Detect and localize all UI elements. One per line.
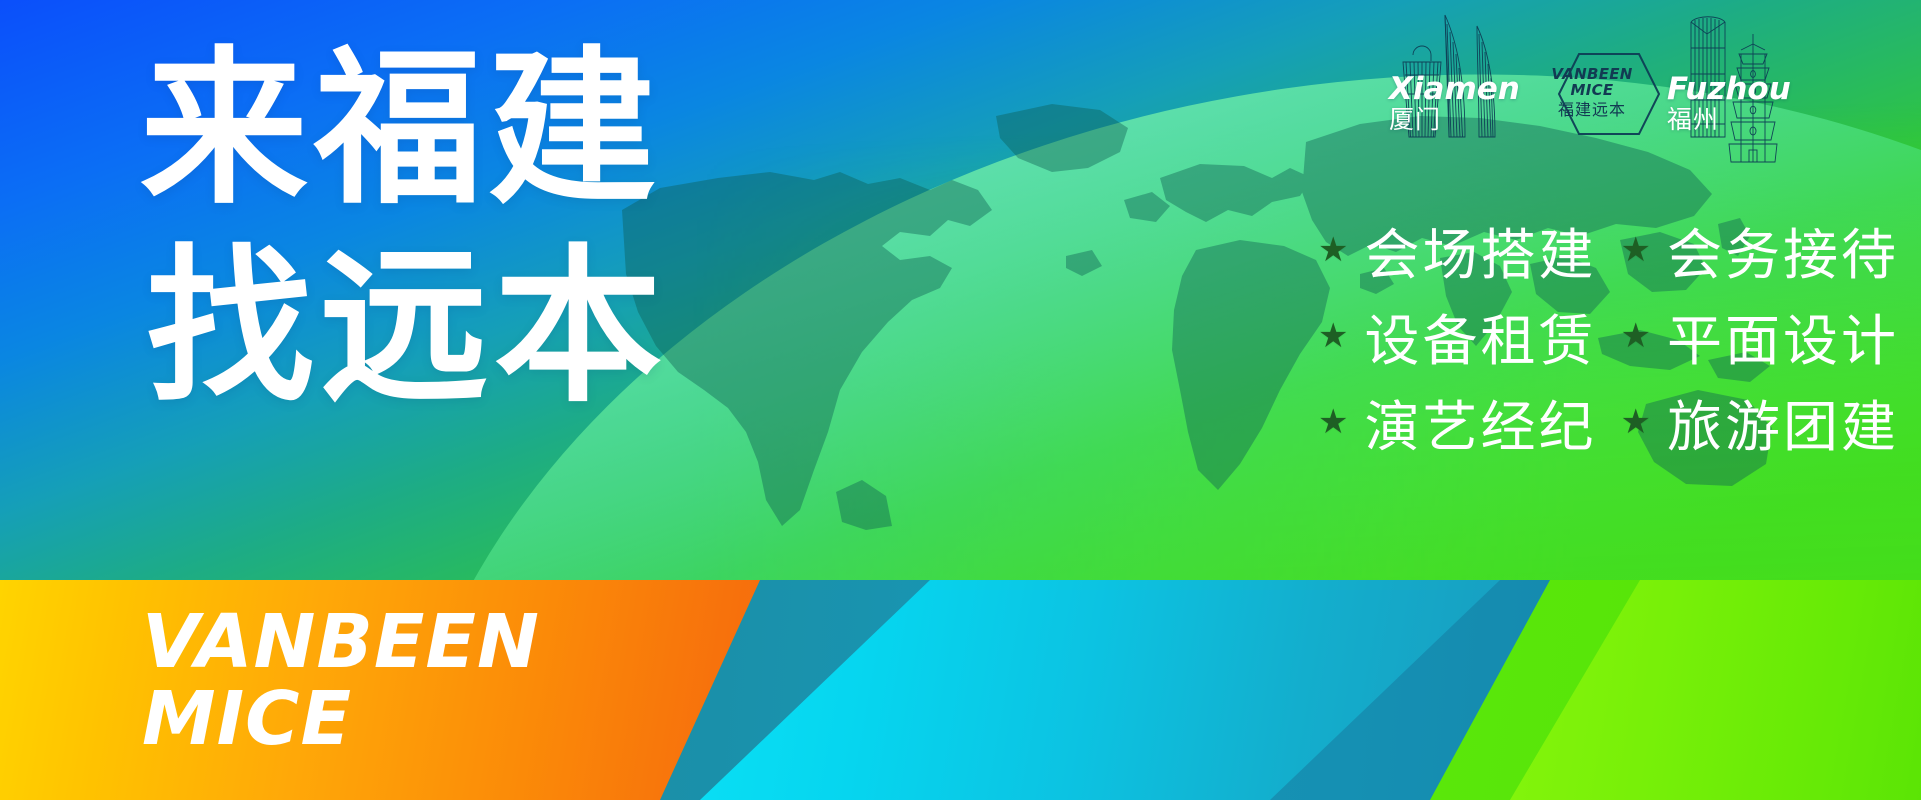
service-item[interactable]: ★ 设备租赁 bbox=[1318, 294, 1597, 378]
service-item[interactable]: ★ 会场搭建 bbox=[1318, 208, 1597, 292]
star-icon: ★ bbox=[1318, 405, 1348, 439]
service-item[interactable]: ★ 会务接待 bbox=[1621, 208, 1900, 292]
service-list: ★ 会场搭建 ★ 会务接待 ★ 设备租赁 ★ 平面设计 ★ 演艺经纪 ★ 旅游团 bbox=[1318, 208, 1899, 464]
banner-bottom-bar: VANBEEN MICE bbox=[0, 580, 1921, 800]
service-label: 设备租赁 bbox=[1364, 296, 1596, 376]
banner-main-area: 来福建 找远本 ★ 会场搭建 ★ 会务接待 ★ 设备租赁 ★ 平面设计 ★ bbox=[0, 0, 1921, 580]
service-label: 旅游团建 bbox=[1667, 382, 1899, 462]
star-icon: ★ bbox=[1621, 405, 1651, 439]
service-label: 演艺经纪 bbox=[1364, 382, 1596, 462]
city-fuzhou: Fuzhou 福州 bbox=[1667, 74, 1791, 134]
hex-badge-cn: 福建远本 bbox=[1529, 100, 1655, 120]
city-xiamen: Xiamen 厦门 bbox=[1389, 74, 1520, 134]
city-fuzhou-cn: 福州 bbox=[1667, 106, 1791, 135]
star-icon: ★ bbox=[1318, 233, 1348, 267]
star-icon: ★ bbox=[1621, 233, 1651, 267]
service-item[interactable]: ★ 旅游团建 bbox=[1621, 380, 1900, 464]
star-icon: ★ bbox=[1621, 319, 1651, 353]
city-xiamen-en: Xiamen bbox=[1389, 74, 1520, 106]
brand-line-vanbeen: VANBEEN bbox=[142, 604, 540, 681]
brand-line-mice: MICE bbox=[142, 681, 540, 758]
hex-badge-en-line2: MICE bbox=[1529, 83, 1655, 99]
headline-line-2: 找远本 bbox=[146, 228, 668, 426]
service-label: 会场搭建 bbox=[1364, 210, 1596, 290]
headline-line-1: 来福建 bbox=[140, 30, 668, 228]
city-xiamen-cn: 厦门 bbox=[1389, 106, 1520, 135]
promotional-banner: 来福建 找远本 ★ 会场搭建 ★ 会务接待 ★ 设备租赁 ★ 平面设计 ★ bbox=[0, 0, 1921, 800]
service-label: 会务接待 bbox=[1667, 210, 1899, 290]
city-fuzhou-en: Fuzhou bbox=[1667, 74, 1791, 106]
brand-wordmark: VANBEEN MICE bbox=[142, 604, 540, 758]
hexagon-logo-badge: VANBEEN MICE 福建远本 bbox=[1529, 48, 1655, 140]
service-item[interactable]: ★ 演艺经纪 bbox=[1318, 380, 1597, 464]
service-label: 平面设计 bbox=[1667, 296, 1899, 376]
service-item[interactable]: ★ 平面设计 bbox=[1621, 294, 1900, 378]
headline: 来福建 找远本 bbox=[140, 30, 668, 426]
star-icon: ★ bbox=[1318, 319, 1348, 353]
city-landmark-cluster: Xiamen 厦门 Fuzhou 福州 VANBEEN MICE 福建远本 bbox=[1389, 2, 1789, 172]
